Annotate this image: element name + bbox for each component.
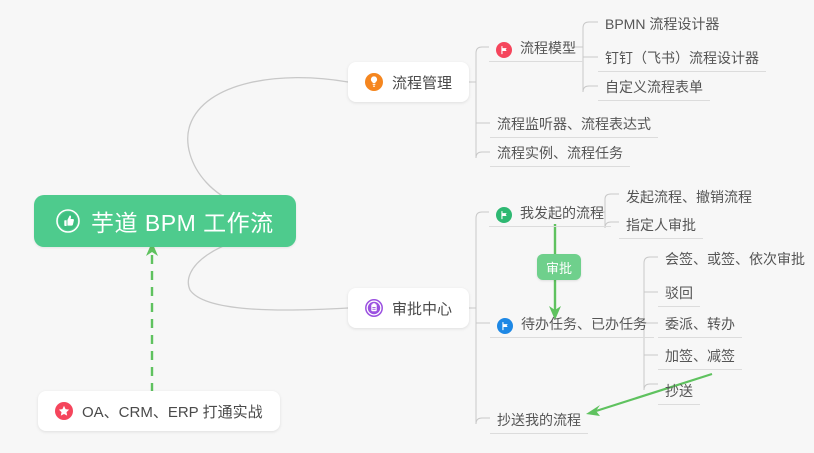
flag-icon	[496, 42, 512, 58]
leaf-reject[interactable]: 驳回	[658, 277, 700, 307]
leaf-countersign[interactable]: 会签、或签、依次审批	[658, 242, 812, 272]
branch-approval-center[interactable]: 审批中心	[348, 288, 469, 328]
leaf-cc-to-me[interactable]: 抄送我的流程	[490, 404, 588, 434]
lightbulb-icon	[365, 73, 383, 91]
approval-tag: 审批	[537, 254, 581, 280]
group-process-model[interactable]: 流程模型	[489, 32, 583, 62]
branch-process-management[interactable]: 流程管理	[348, 62, 469, 102]
leaf-delegate-transfer[interactable]: 委派、转办	[658, 308, 742, 338]
bottom-node-label: OA、CRM、ERP 打通实战	[82, 401, 263, 422]
leaf-process-listener[interactable]: 流程监听器、流程表达式	[490, 108, 658, 138]
thumbs-up-icon	[56, 209, 80, 233]
leaf-dingtalk-designer[interactable]: 钉钉（飞书）流程设计器	[598, 42, 766, 72]
leaf-start-cancel-process[interactable]: 发起流程、撤销流程	[619, 180, 759, 210]
mindmap-canvas: 芋道 BPM 工作流 流程管理 流程模型 BPMN 流程设计器 钉钉（飞书）流程…	[0, 0, 814, 453]
flag-icon	[497, 318, 513, 334]
clipboard-icon	[365, 299, 383, 317]
branch-label: 流程管理	[392, 72, 452, 93]
leaf-cc[interactable]: 抄送	[658, 375, 700, 405]
group-my-initiated[interactable]: 我发起的流程	[489, 197, 611, 227]
leaf-process-instance[interactable]: 流程实例、流程任务	[490, 137, 630, 167]
branch-label: 审批中心	[392, 298, 452, 319]
leaf-add-remove-sign[interactable]: 加签、减签	[658, 340, 742, 370]
group-label: 流程模型	[520, 38, 576, 58]
root-node[interactable]: 芋道 BPM 工作流	[34, 195, 296, 247]
group-todo-done-tasks[interactable]: 待办任务、已办任务	[490, 308, 654, 338]
bottom-node-integration[interactable]: OA、CRM、ERP 打通实战	[38, 391, 280, 431]
emphasis-arrow-up	[146, 242, 158, 392]
leaf-assignee-approval[interactable]: 指定人审批	[619, 209, 703, 239]
leaf-bpmn-designer[interactable]: BPMN 流程设计器	[598, 7, 726, 37]
root-label: 芋道 BPM 工作流	[91, 204, 274, 238]
leaf-custom-form[interactable]: 自定义流程表单	[598, 71, 710, 101]
star-icon	[55, 402, 73, 420]
flag-icon	[496, 207, 512, 223]
